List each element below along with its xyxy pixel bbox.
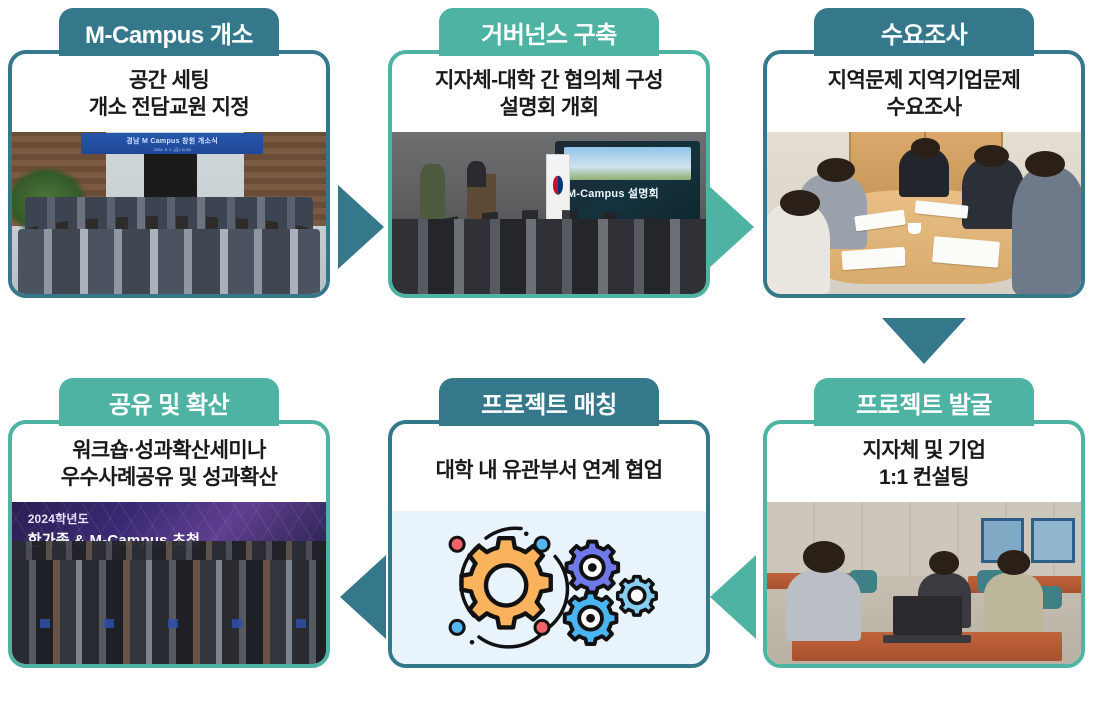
node-blue-bottomleft: [450, 620, 464, 634]
step-4-caption: 지자체 및 기업 1:1 컨설팅: [767, 424, 1081, 502]
briefing-session-auditorium-photo: M-Campus 설명회: [392, 132, 706, 294]
screen-title-text: M-Campus 설명회: [567, 185, 659, 201]
one-on-one-consulting-photo: [767, 502, 1081, 664]
process-step-card-2[interactable]: 거버넌스 구축 지자체-대학 간 협의체 구성 설명회 개회 M-Campus …: [388, 8, 710, 298]
step-6-body: 워크숍·성과확산세미나 우수사례공유 및 성과확산 2024학년도 한가족 & …: [8, 420, 330, 668]
step-1-caption-line-2: 개소 전담교원 지정: [22, 95, 316, 122]
paper-cup-1: [908, 223, 921, 234]
person-left-front: [767, 203, 830, 294]
step-6-caption: 워크숍·성과확산세미나 우수사례공유 및 성과확산: [12, 424, 326, 502]
gear-blue-center: [586, 614, 595, 623]
document-d: [932, 236, 1000, 268]
process-step-card-4[interactable]: 프로젝트 발굴 지자체 및 기업 1:1 컨설팅: [763, 378, 1085, 668]
window-right: [1031, 518, 1075, 563]
camera-operator: [420, 164, 445, 219]
orbit-arc-bottom: [479, 635, 540, 647]
gear-main-orange: [462, 538, 551, 627]
step-5-body: 대학 내 유관부서 연계 협업: [388, 420, 710, 668]
head-back-center: [911, 138, 939, 157]
ceremony-banner: 경남 M Campus 창원 개소식 2024. 8. 2. (금) 11:30: [81, 133, 263, 154]
arrow-step2-to-step3: [708, 185, 754, 269]
gear-blue: [565, 592, 617, 644]
gear-cyan-hub: [629, 587, 645, 603]
step-6-media: 2024학년도 한가족 & M-Campus 초청: [12, 502, 326, 664]
ceremony-banner-title: 경남 M Campus 창원 개소식: [81, 136, 263, 146]
step-4-media: [767, 502, 1081, 664]
process-step-card-6[interactable]: 공유 및 확산 워크숍·성과확산세미나 우수사례공유 및 성과확산 2024학년…: [8, 378, 330, 668]
step-5-caption: 대학 내 유관부서 연계 협업: [392, 424, 706, 511]
orbit-dot-top: [524, 531, 529, 536]
gear-purple-center: [588, 563, 597, 572]
consultant-left: [786, 570, 861, 641]
step-1-body: 공간 세팅 개소 전담교원 지정 경남 M Campus 창원 개소식 2024…: [8, 50, 330, 298]
step-5-caption-line-1: 대학 내 유관부서 연계 협업: [402, 458, 696, 485]
screen-building-image: [564, 147, 691, 181]
gears-svg: [392, 511, 706, 664]
arrow-step3-to-step4: [882, 318, 966, 364]
step-2-media: M-Campus 설명회: [392, 132, 706, 294]
ceremony-banner-date: 2024. 8. 2. (금) 11:30: [81, 147, 263, 153]
arrow-step4-to-step5: [710, 555, 756, 639]
head-left-front: [780, 190, 821, 216]
paper-cup-2: [893, 249, 906, 260]
process-step-card-3[interactable]: 수요조사 지역문제 지역기업문제 수요조사: [763, 8, 1085, 298]
step-5-media: [392, 511, 706, 664]
step-3-media: [767, 132, 1081, 294]
head-center: [929, 551, 959, 575]
consultant-right: [984, 573, 1044, 631]
step-4-body: 지자체 및 기업 1:1 컨설팅: [763, 420, 1085, 668]
gear-purple: [567, 542, 619, 594]
step-6-caption-line-1: 워크숍·성과확산세미나: [22, 438, 316, 465]
laptop: [893, 596, 962, 635]
process-flow-diagram: M-Campus 개소 공간 세팅 개소 전담교원 지정 경남 M Campus…: [0, 0, 1097, 701]
speaker-person: [467, 161, 486, 187]
step-4-caption-line-1: 지자체 및 기업: [777, 438, 1071, 465]
step-1-caption: 공간 세팅 개소 전담교원 지정: [12, 54, 326, 132]
step-2-body: 지자체-대학 간 협의체 구성 설명회 개회 M-Campus 설명회: [388, 50, 710, 298]
step-1-header: M-Campus 개소: [59, 8, 279, 56]
arrow-step5-to-step6: [340, 555, 386, 639]
front-row-people: [18, 229, 319, 294]
gears-collaboration-illustration: [392, 511, 706, 664]
gear-main-hub: [486, 565, 526, 605]
head-right: [997, 550, 1030, 576]
head-left-upper: [817, 158, 855, 182]
step-3-body: 지역문제 지역기업문제 수요조사: [763, 50, 1085, 298]
achievement-sharing-group-photo: 2024학년도 한가족 & M-Campus 초청: [12, 502, 326, 664]
process-step-card-5[interactable]: 프로젝트 매칭 대학 내 유관부서 연계 협업: [388, 378, 710, 668]
round-table-meeting-photo: [767, 132, 1081, 294]
step-3-header: 수요조사: [814, 8, 1034, 56]
step-1-caption-line-1: 공간 세팅: [22, 68, 316, 95]
step-6-caption-line-2: 우수사례공유 및 성과확산: [22, 465, 316, 492]
process-step-card-1[interactable]: M-Campus 개소 공간 세팅 개소 전담교원 지정 경남 M Campus…: [8, 8, 330, 298]
step-2-caption-line-2: 설명회 개회: [402, 95, 696, 122]
step-2-caption-line-1: 지자체-대학 간 협의체 구성: [402, 68, 696, 95]
node-red-topleft: [450, 537, 464, 551]
step-3-caption-line-2: 수요조사: [777, 95, 1071, 122]
crowd-name-badges: [12, 619, 326, 629]
step-3-caption-line-1: 지역문제 지역기업문제: [777, 68, 1071, 95]
stage-screen-year: 2024학년도: [28, 510, 89, 527]
step-4-caption-line-2: 1:1 컨설팅: [777, 465, 1071, 492]
step-4-header: 프로젝트 발굴: [814, 378, 1034, 426]
step-1-media: 경남 M Campus 창원 개소식 2024. 8. 2. (금) 11:30: [12, 132, 326, 294]
arrow-step1-to-step2: [338, 185, 384, 269]
opening-ceremony-group-photo: 경남 M Campus 창원 개소식 2024. 8. 2. (금) 11:30: [12, 132, 326, 294]
head-right-upper: [974, 145, 1009, 168]
node-red-bottomright: [535, 620, 549, 634]
orbit-dot-bottom: [470, 640, 475, 645]
step-5-header: 프로젝트 매칭: [439, 378, 659, 426]
crowd-front-row: [12, 560, 326, 664]
person-right-front: [1012, 167, 1081, 294]
step-3-caption: 지역문제 지역기업문제 수요조사: [767, 54, 1081, 132]
audience-seated: [392, 219, 706, 294]
gear-cyan-small: [618, 577, 657, 616]
step-2-caption: 지자체-대학 간 협의체 구성 설명회 개회: [392, 54, 706, 132]
step-2-header: 거버넌스 구축: [439, 8, 659, 56]
step-6-header: 공유 및 확산: [59, 378, 279, 426]
